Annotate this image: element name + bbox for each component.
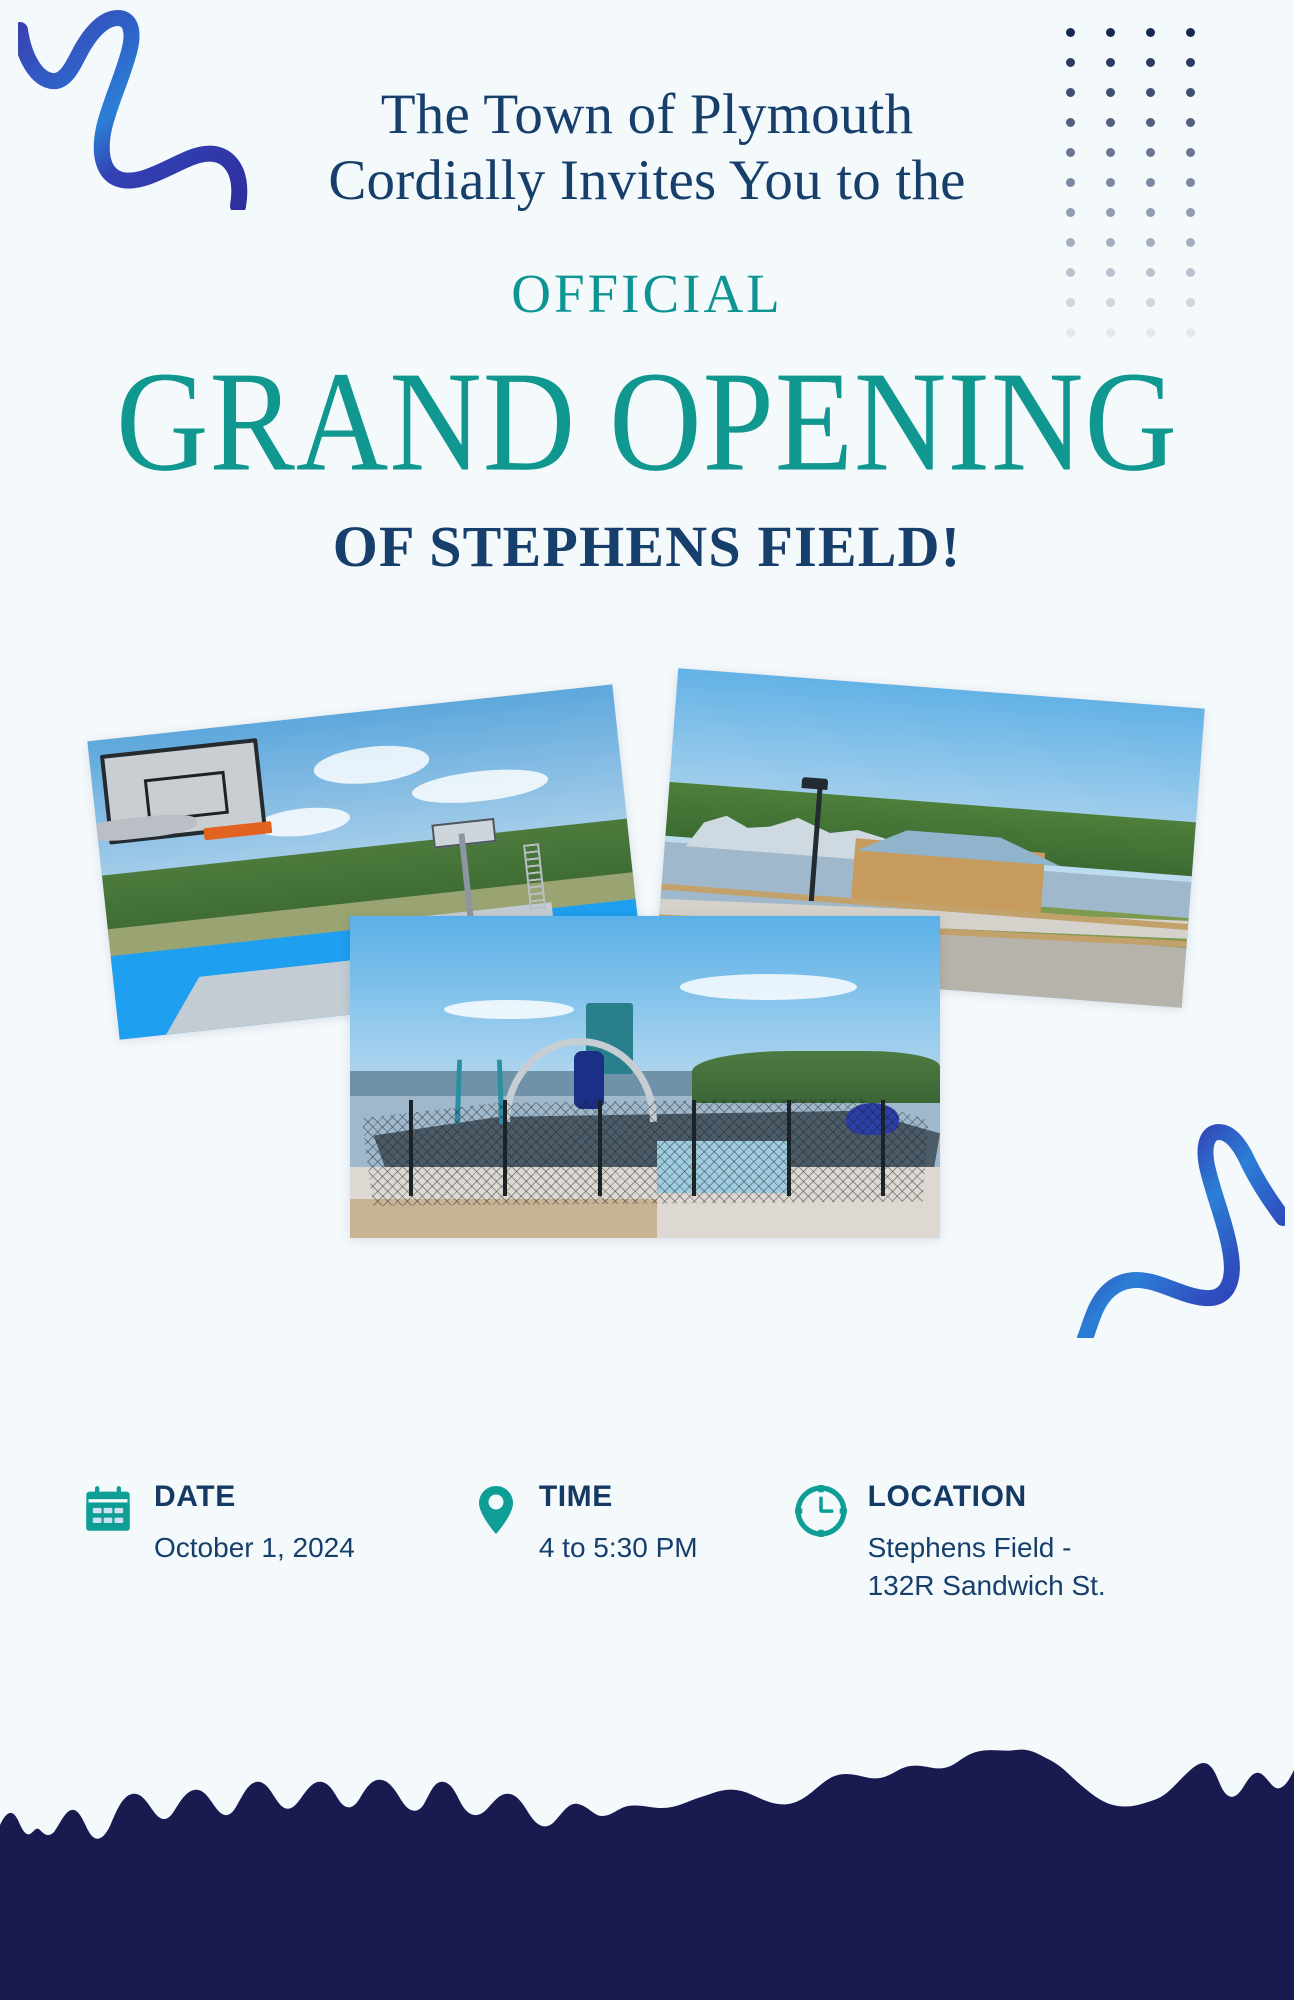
fence-post — [787, 1100, 791, 1197]
fence-post — [598, 1100, 602, 1197]
detail-time-value: 4 to 5:30 PM — [539, 1529, 698, 1567]
cloud — [680, 974, 857, 1000]
invite-line-2: Cordially Invites You to the — [0, 148, 1294, 214]
invite-line-1: The Town of Plymouth — [0, 0, 1294, 148]
fence-post — [503, 1100, 507, 1197]
detail-date-value: October 1, 2024 — [154, 1529, 355, 1567]
poster-header: The Town of Plymouth Cordially Invites Y… — [0, 0, 1294, 580]
detail-location-label: LOCATION — [868, 1480, 1027, 1513]
photo-collage — [0, 680, 1294, 1340]
playground-photo — [350, 916, 940, 1238]
cloud — [444, 1000, 574, 1019]
fence-post — [881, 1100, 885, 1197]
official-label: OFFICIAL — [0, 214, 1294, 325]
grand-opening-title: GRAND OPENING — [0, 325, 1294, 493]
torn-edge-band — [0, 1730, 1294, 2000]
detail-date: DATE October 1, 2024 — [82, 1480, 355, 1605]
detail-date-label: DATE — [154, 1480, 236, 1513]
clock-icon — [794, 1484, 848, 1543]
fence-post — [409, 1100, 413, 1197]
fence-post — [692, 1100, 696, 1197]
detail-time-label: TIME — [539, 1480, 613, 1513]
map-pin-icon — [473, 1484, 519, 1541]
chain-link-fence — [362, 1096, 928, 1205]
calendar-icon — [82, 1484, 134, 1541]
event-details-row: DATE October 1, 2024 TIME 4 to 5:30 PM — [0, 1480, 1294, 1605]
street-lamp-head — [801, 777, 828, 789]
tree-line — [692, 1051, 940, 1103]
detail-location: LOCATION Stephens Field - 132R Sandwich … — [794, 1480, 1106, 1605]
detail-location-value: Stephens Field - 132R Sandwich St. — [868, 1529, 1106, 1605]
detail-time: TIME 4 to 5:30 PM — [473, 1480, 698, 1605]
